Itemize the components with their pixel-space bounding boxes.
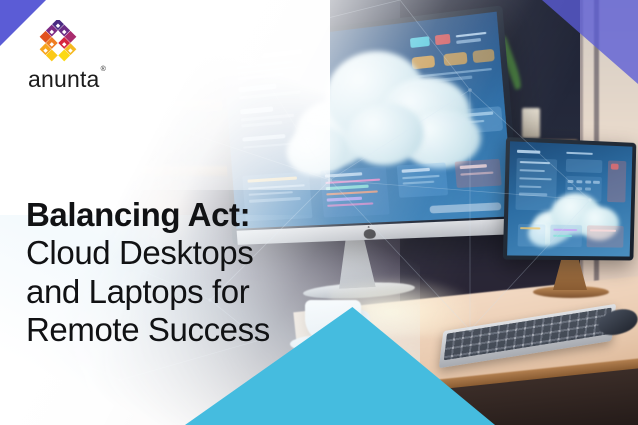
headline-line-3: and Laptops for: [26, 273, 366, 311]
headline-line-4: Remote Success: [26, 311, 366, 349]
brand-logo[interactable]: anunta®: [28, 20, 138, 92]
brand-wordmark: anunta®: [28, 68, 105, 91]
brand-name-text: anunta: [28, 66, 100, 92]
page-title: Balancing Act: Cloud Desktops and Laptop…: [26, 196, 366, 349]
registered-trademark-icon: ®: [101, 66, 106, 73]
marketing-banner: anunta® Balancing Act: Cloud Desktops an…: [0, 0, 638, 425]
anunta-knot-logo-icon: [32, 20, 84, 64]
headline-line-2: Cloud Desktops: [26, 234, 366, 272]
headline-line-1: Balancing Act:: [26, 196, 366, 234]
